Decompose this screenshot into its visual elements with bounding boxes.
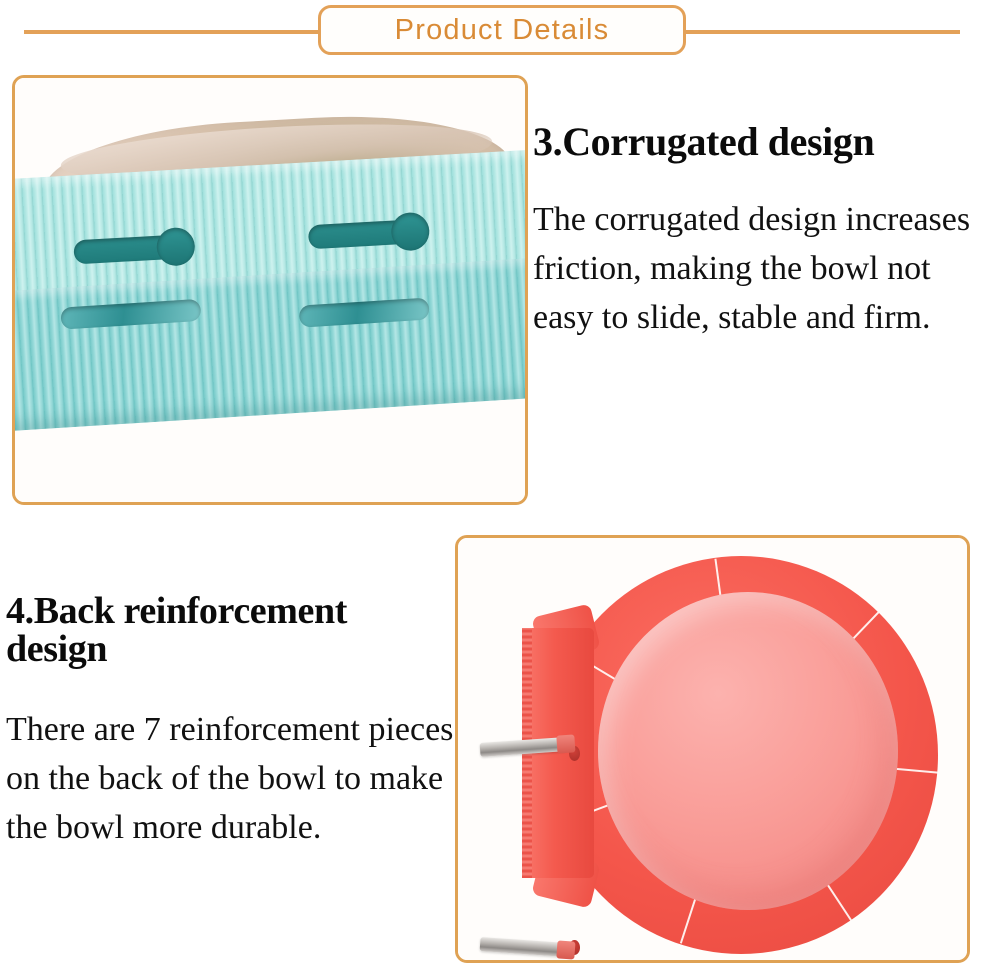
straight-slot-2 — [299, 298, 430, 328]
page-title: Product Details — [395, 14, 610, 47]
straight-slot-1 — [60, 299, 201, 330]
back-reinforcement-photo-frame — [455, 535, 970, 963]
product-details-badge: Product Details — [318, 5, 686, 55]
keyhole-slot-2 — [308, 219, 421, 249]
back-reinforcement-heading: 4.Back reinforcement design — [6, 592, 454, 668]
photo-stage — [458, 538, 967, 960]
corrugated-design-body: The corrugated design increases friction… — [533, 195, 981, 342]
corrugated-design-heading: 3.Corrugated design — [533, 120, 981, 164]
pink-bowl-illustration — [458, 538, 967, 960]
header-rule-right — [680, 30, 960, 34]
bolt-tip-top — [556, 734, 575, 753]
photo-stage — [15, 78, 525, 502]
corrugated-design-text-block: 3.Corrugated design The corrugated desig… — [533, 120, 981, 342]
bolt-tip-bottom — [556, 940, 575, 959]
bowl-back-dome — [598, 592, 898, 910]
metal-bolt-top — [480, 737, 567, 757]
header-rule-left — [24, 30, 324, 34]
keyhole-slot-1 — [73, 234, 186, 264]
corrugated-design-photo-frame — [12, 75, 528, 505]
teal-bowl-illustration — [15, 78, 525, 502]
back-reinforcement-text-block: 4.Back reinforcement design There are 7 … — [6, 592, 454, 852]
metal-bolt-bottom — [480, 937, 567, 957]
header-banner: Product Details — [0, 0, 984, 62]
back-reinforcement-body: There are 7 reinforcement pieces on the … — [6, 705, 454, 852]
mounting-bracket — [522, 628, 594, 878]
